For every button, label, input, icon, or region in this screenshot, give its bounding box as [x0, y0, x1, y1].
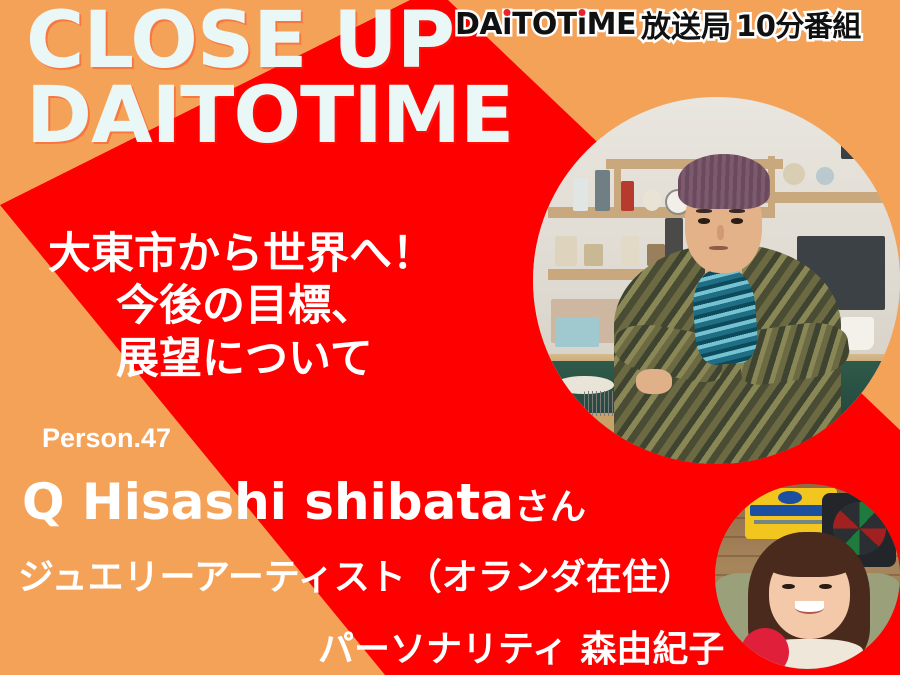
- ball-2: [816, 167, 834, 185]
- guest-eye-left: [698, 218, 710, 224]
- personality-credit: パーソナリティ 森由紀子: [318, 620, 724, 672]
- guest-nose: [717, 225, 724, 240]
- personality-photo: [715, 484, 900, 669]
- bottle-1: [573, 178, 588, 211]
- program-badge: DAiTOTiME 放送局 10分番組: [455, 2, 861, 46]
- i-dot-accent: [578, 9, 585, 16]
- guest-honorific: さん: [514, 487, 586, 528]
- title-line-2: DAITOTIME: [26, 79, 513, 154]
- bottle-2: [595, 170, 610, 210]
- guest-beanie: [678, 154, 770, 209]
- shelf-plank-3: [761, 192, 886, 203]
- shelf-upright-1: [614, 163, 621, 214]
- guest-role: ジュエリーアーティスト（オランダ在住）: [18, 548, 694, 600]
- ball-1: [783, 163, 805, 185]
- subtitle-line-3: 展望について: [116, 333, 435, 385]
- jar-3: [584, 244, 602, 266]
- badge-duration: 10分番組: [736, 3, 861, 45]
- jar-2: [555, 236, 577, 265]
- box-top-right: [841, 141, 885, 159]
- sign-title-bar: [750, 505, 831, 515]
- jar-4: [621, 236, 639, 265]
- guest-name: Q Hisashi shibataさん: [22, 473, 586, 531]
- guest-name-text: Q Hisashi shibata: [22, 473, 514, 531]
- badge-station: 放送局: [641, 2, 731, 46]
- subtitle-line-1: 大東市から世界へ！: [48, 229, 435, 279]
- page-title: CLOSE UP DAITOTIME: [26, 4, 513, 154]
- workshop-scene: [533, 97, 900, 464]
- subtitle-line-2: 今後の目標、: [116, 280, 435, 332]
- person-number: Person.47: [42, 423, 171, 454]
- guest-photo: [533, 97, 900, 464]
- bin-teal: [555, 317, 599, 346]
- personality-bangs: [763, 540, 856, 577]
- guest-brow-left: [696, 209, 711, 213]
- sign-subtitle-bar: [754, 520, 828, 524]
- studio-scene: [715, 484, 900, 669]
- guest-mouth: [709, 246, 727, 250]
- microphone: [741, 628, 789, 669]
- guest-hand: [636, 369, 673, 395]
- bottle-3: [621, 181, 634, 210]
- personality-smile: [795, 601, 825, 614]
- guest-eye-right: [731, 218, 743, 224]
- poster-canvas: DAiTOTiME 放送局 10分番組 CLOSE UP DAITOTIME 大…: [0, 0, 900, 675]
- episode-subtitle: 大東市から世界へ！ 今後の目標、 展望について: [48, 228, 435, 385]
- guest-brow-right: [729, 209, 744, 213]
- sign-logo-circle: [778, 491, 802, 504]
